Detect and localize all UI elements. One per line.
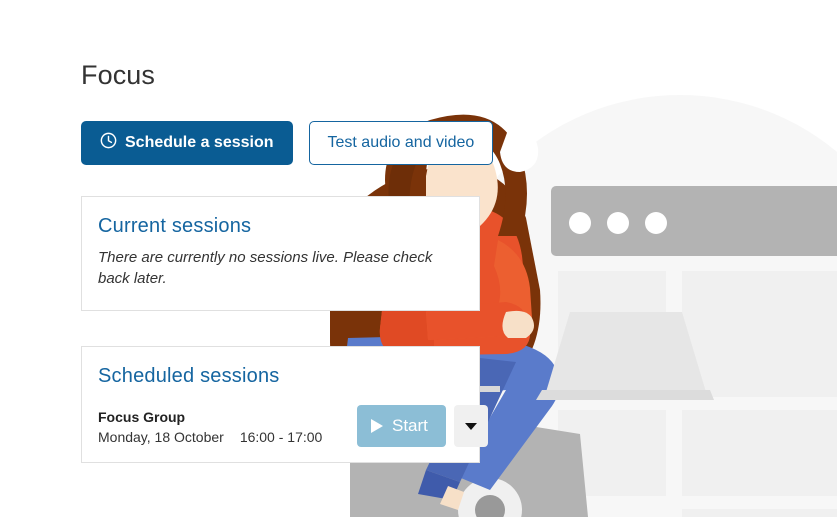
schedule-a-session-label: Schedule a session (125, 134, 274, 152)
current-sessions-title: Current sessions (82, 197, 479, 238)
session-list-item: Focus Group Monday, 18 October 16:00 - 1… (98, 398, 463, 448)
page-content: Focus Schedule a session Test audio and … (0, 0, 837, 517)
clock-icon (100, 132, 117, 154)
scheduled-sessions-card: Scheduled sessions Focus Group Monday, 1… (81, 346, 480, 463)
start-session-button[interactable]: Start (357, 405, 446, 447)
start-session-label: Start (392, 416, 428, 436)
session-controls: Start (357, 405, 488, 447)
test-audio-and-video-button[interactable]: Test audio and video (309, 121, 494, 165)
session-schedule: Monday, 18 October 16:00 - 17:00 (98, 427, 322, 447)
scheduled-sessions-body: Focus Group Monday, 18 October 16:00 - 1… (82, 388, 479, 448)
play-icon (371, 419, 383, 433)
no-sessions-message: There are currently no sessions live. Pl… (98, 248, 463, 289)
chevron-down-icon (465, 423, 477, 430)
page-title: Focus (81, 60, 155, 91)
scheduled-sessions-title: Scheduled sessions (82, 347, 479, 388)
action-buttons: Schedule a session Test audio and video (81, 121, 493, 165)
current-sessions-card: Current sessions There are currently no … (81, 196, 480, 311)
session-options-dropdown-button[interactable] (454, 405, 488, 447)
session-name: Focus Group (98, 407, 322, 427)
session-date: Monday, 18 October (98, 427, 224, 447)
session-info: Focus Group Monday, 18 October 16:00 - 1… (98, 407, 322, 448)
current-sessions-body: There are currently no sessions live. Pl… (82, 238, 479, 289)
schedule-a-session-button[interactable]: Schedule a session (81, 121, 293, 165)
session-time: 16:00 - 17:00 (240, 427, 323, 447)
